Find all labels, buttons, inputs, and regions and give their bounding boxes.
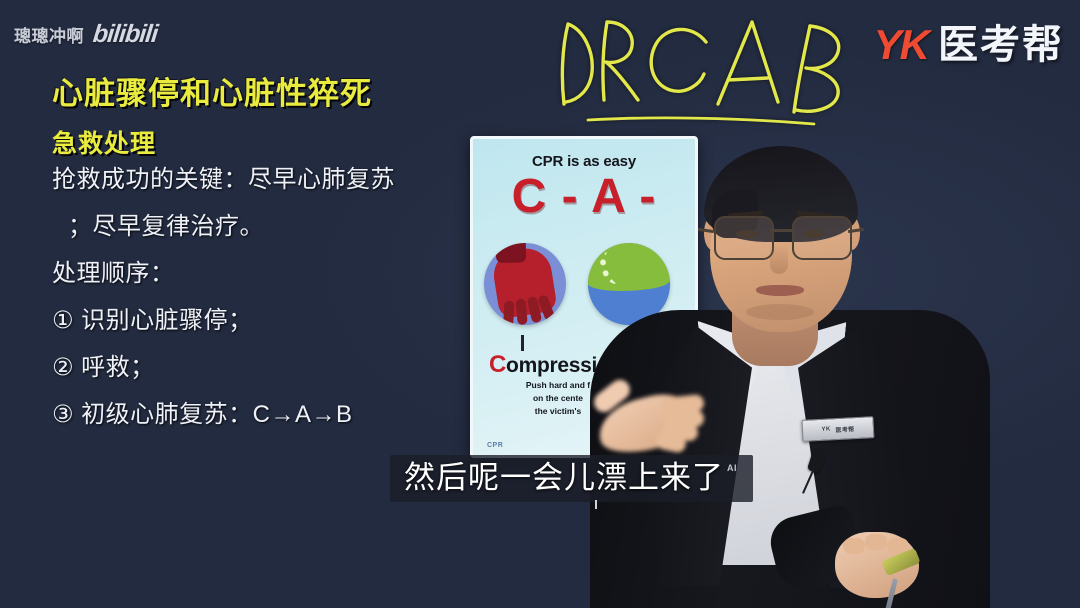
slide-subtitle: 急救处理 — [52, 124, 156, 160]
left-hand-open-palm — [592, 382, 710, 460]
badge-org: 医考帮 — [835, 424, 854, 434]
chin — [746, 304, 814, 320]
handwritten-annotation-drcab — [546, 8, 876, 138]
slide-body-line: ③ 初级心肺复苏：C→A→B — [52, 403, 472, 427]
badge-mark: YK — [821, 426, 830, 432]
brand-mark: YK — [874, 24, 928, 66]
ai-source-tag: AI — [727, 463, 737, 473]
slide-body-line: ① 识别心脏骤停； — [52, 309, 472, 333]
slide-body-line: ② 呼救； — [52, 356, 472, 380]
ai-subtitle-bar: 然后呢一会儿漂上来了 AI — [390, 455, 753, 502]
bilibili-logo: bilibili — [91, 20, 158, 49]
poster-footer: CPR — [487, 442, 503, 449]
presenter: YK 医考帮 — [560, 120, 1030, 608]
subtitle-text: 然后呢一会儿漂上来了 — [404, 461, 724, 494]
slide-body-line: ；尽早复律治疗。 — [52, 215, 472, 239]
compression-hands-icon — [484, 243, 566, 325]
uploader-name: 璁璁冲啊 — [14, 22, 84, 47]
channel-watermark: 璁璁冲啊 bilibili — [14, 20, 157, 49]
poster-connector-line — [521, 335, 524, 351]
brand-logo: YK 医考帮 — [874, 24, 1064, 66]
slide-body-line: 抢救成功的关键：尽早心肺复苏 — [52, 168, 472, 192]
brand-name: 医考帮 — [938, 25, 1064, 65]
right-hand-holding-stylus — [825, 520, 945, 608]
nose — [770, 244, 788, 274]
video-frame: 璁璁冲啊 bilibili 心脏骤停和心脏性猝死 急救处理 抢救成功的关键：尽早… — [0, 0, 1080, 608]
mouth — [756, 285, 804, 296]
slide-body: 抢救成功的关键：尽早心肺复苏 ；尽早复律治疗。 处理顺序： ① 识别心脏骤停； … — [52, 168, 472, 450]
slide-body-line: 处理顺序： — [52, 262, 472, 286]
slide-title: 心脏骤停和心脏性猝死 — [52, 68, 372, 113]
name-badge: YK 医考帮 — [801, 416, 874, 442]
subtitle-caret — [595, 500, 597, 509]
